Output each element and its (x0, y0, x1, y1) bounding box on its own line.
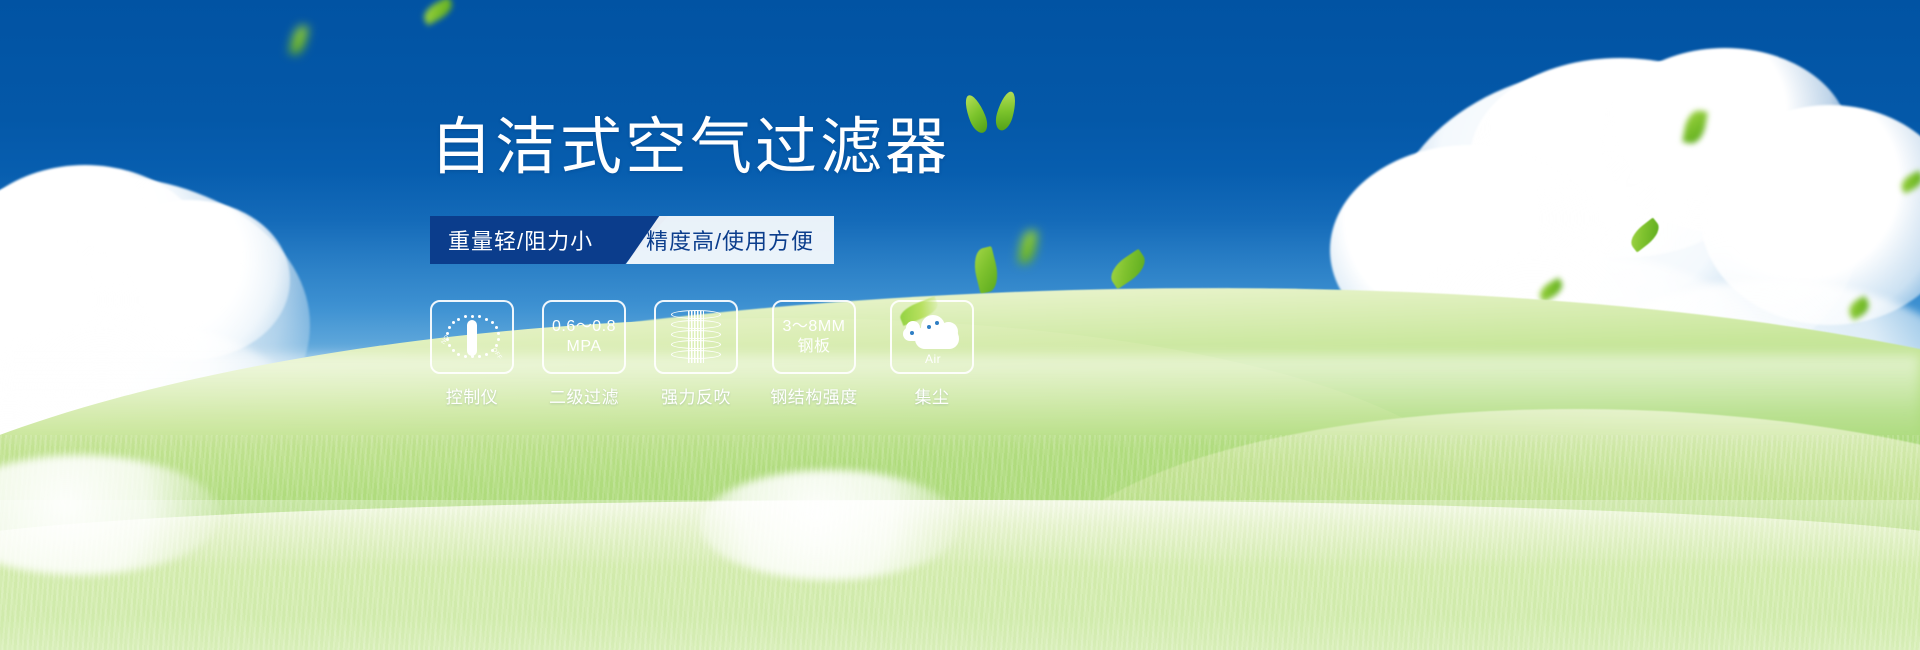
air-caption: Air (925, 352, 941, 366)
feature-label-backblow: 强力反吹 (661, 383, 731, 408)
feature-item-dust: Air 集尘 (890, 300, 974, 408)
feature-item-backblow: 强力反吹 (654, 300, 738, 408)
feature-label-steel: 钢结构强度 (770, 383, 858, 408)
tag-highprecision-easyuse: 精度高/使用方便 (626, 216, 834, 264)
sprout-leaves-icon (964, 90, 1028, 134)
feature-list: NO OFF 控制仪 0.6～0.8 MPA 二级过滤 (430, 300, 1070, 408)
feature-box-filtration: 0.6～0.8 MPA (542, 300, 626, 374)
cartridge-core (688, 311, 704, 363)
field-sheen (0, 500, 1920, 650)
leaf-icon (1536, 277, 1566, 302)
gauge-needle (467, 320, 477, 356)
steel-value-line2: 钢板 (797, 337, 830, 357)
cloud-center-c (1060, 450, 1230, 540)
title-row: 自洁式空气过滤器 (430, 108, 1070, 194)
cloud-right-main (1390, 65, 1860, 395)
leaf-icon (1626, 217, 1664, 252)
filter-cartridge-icon (671, 309, 721, 365)
steel-value-line1: 3～8MM (783, 317, 846, 337)
grass-texture (0, 435, 1920, 650)
sprout-leaf-left (961, 92, 991, 135)
pressure-value-line2: MPA (567, 337, 602, 357)
cloud-center-e (1180, 475, 1320, 555)
cloud-mid-haze (500, 430, 920, 550)
product-banner: 自洁式空气过滤器 重量轻/阻力小 精度高/使用方便 (0, 0, 1920, 650)
cloud-right-left-lobe (1330, 145, 1610, 355)
cloud-center-b (950, 440, 1070, 520)
cloud-left-bump-a (90, 200, 290, 360)
leaf-icon (1166, 315, 1206, 345)
leaf-icon (1105, 249, 1150, 290)
feature-item-steel: 3～8MM 钢板 钢结构强度 (766, 300, 862, 408)
feature-box-backblow (654, 300, 738, 374)
feature-item-filtration: 0.6～0.8 MPA 二级过滤 (542, 300, 626, 408)
feature-box-steel: 3～8MM 钢板 (772, 300, 856, 374)
leaf-icon (289, 24, 309, 56)
leaf-icon (1845, 296, 1872, 321)
leaf-icon (420, 0, 456, 26)
cloud-left-top (0, 165, 210, 355)
subtitle-tags: 重量轻/阻力小 精度高/使用方便 (430, 216, 834, 264)
cloud-right-peak (1600, 48, 1850, 233)
leaf-icon (1898, 170, 1920, 194)
feature-label-filtration: 二级过滤 (549, 383, 619, 408)
feature-box-controller: NO OFF (430, 300, 514, 374)
banner-content: 自洁式空气过滤器 重量轻/阻力小 精度高/使用方便 (430, 108, 1070, 408)
cloud-horizon-left (0, 455, 220, 575)
sprout-leaf-right (993, 90, 1019, 133)
feature-item-controller: NO OFF 控制仪 (430, 300, 514, 408)
gauge-dial-icon: NO OFF (441, 309, 503, 365)
cloud-right-top (1470, 58, 1770, 258)
leaf-icon (1682, 109, 1708, 146)
air-cloud-icon: Air (901, 311, 963, 363)
cloud-right-lobe-b (1700, 105, 1920, 325)
feature-label-controller: 控制仪 (446, 383, 499, 408)
cloud-body (915, 325, 959, 349)
field-foreground (0, 500, 1920, 650)
cloud-horizon-mid (700, 470, 960, 580)
feature-box-dust: Air (890, 300, 974, 374)
feature-label-dust: 集尘 (915, 383, 950, 408)
pressure-value-line1: 0.6～0.8 (552, 317, 616, 337)
cloud-center-d (1080, 495, 1230, 570)
